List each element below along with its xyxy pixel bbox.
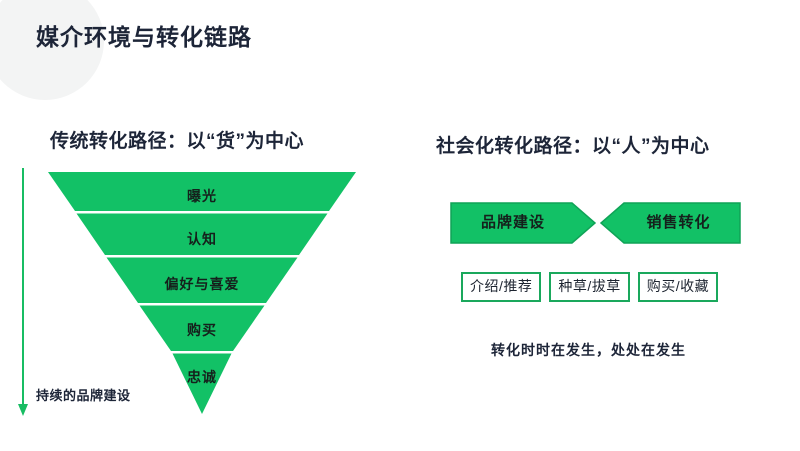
tag-box: 介绍/推荐 <box>461 272 541 302</box>
funnel-shape <box>48 172 356 414</box>
funnel-segment-3 <box>107 258 298 304</box>
chevron-left-icon <box>600 202 741 244</box>
down-arrow-icon <box>15 168 31 416</box>
conversion-funnel: 曝光 认知 偏好与喜爱 购买 忠诚 <box>48 172 356 414</box>
page-title: 媒介环境与转化链路 <box>36 18 252 52</box>
chevron-brand-building: 品牌建设 <box>450 202 596 244</box>
funnel-segment-2 <box>77 214 328 256</box>
chevron-sales-conversion: 销售转化 <box>600 202 741 244</box>
social-touchpoint-tags: 介绍/推荐 种草/拔草 购买/收藏 <box>461 272 718 302</box>
tag-box: 购买/收藏 <box>638 272 718 302</box>
chevron-right-icon <box>450 202 596 244</box>
funnel-segment-5 <box>173 354 232 415</box>
tag-box: 种草/拔草 <box>549 272 629 302</box>
right-panel-heading: 社会化转化路径：以“人”为中心 <box>436 131 710 158</box>
funnel-segment-4 <box>140 306 265 352</box>
continuous-branding-arrow <box>15 168 31 416</box>
funnel-segment-1 <box>48 172 356 211</box>
left-panel-heading: 传统转化路径：以“货”为中心 <box>50 126 304 153</box>
right-panel-caption: 转化时时在发生，处处在发生 <box>491 340 686 360</box>
slide-canvas: 媒介环境与转化链路 传统转化路径：以“货”为中心 持续的品牌建设 曝光 认知 偏… <box>0 0 800 451</box>
